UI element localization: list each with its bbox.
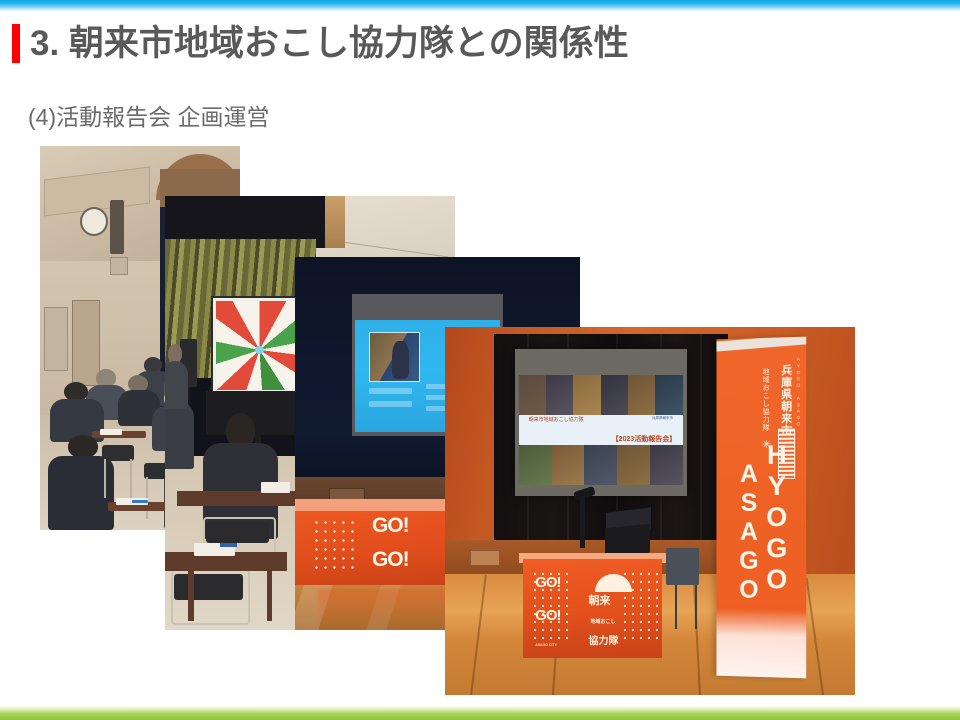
photo-4-slide-title: 朝来市地域おこし協力隊 (529, 416, 584, 423)
photo-3-slide-portrait (369, 332, 419, 382)
photo-4-banner-asago-text: ASAGO (734, 460, 763, 605)
photo-3-tablecloth-go-2: GO! (372, 548, 409, 572)
photo-4-projected-slide: 朝来市地域おこし協力隊 兵庫県朝来市 【2023活動報告会】 (519, 375, 683, 485)
photo-4-banner-jp-sub: 地域おこし協力隊 (760, 368, 770, 432)
photo-4-tablecloth-go-1: GO! (535, 574, 560, 591)
photo-4-tablecloth-jp-2: 地域おこし (591, 618, 616, 625)
page-title: 3. 朝来市地域おこし協力隊との関係性 (30, 24, 629, 63)
photo-4-stage-vent (470, 550, 501, 567)
stage-with-banner-photo: 朝来市地域おこし協力隊 兵庫県朝来市 【2023活動報告会】 GO! GO! 朝… (445, 327, 855, 695)
photo-4-slide-bottom-strip (519, 445, 683, 485)
photo-3-tablecloth-dots (312, 518, 358, 570)
photo-4-slide-title-band: 朝来市地域おこし協力隊 兵庫県朝来市 【2023活動報告会】 (519, 415, 683, 446)
slide-subtitle: (4)活動報告会 企画運営 (28, 98, 270, 132)
photo-4-tablecloth-jp-1: 朝来 (589, 592, 611, 608)
photo-4-slide-logo: 兵庫県朝来市 (652, 416, 673, 421)
photo-4-banner-romaji: HYOGO ASAGO (796, 357, 801, 428)
photo-4-banner-hyogo-text: HYOGO (760, 439, 791, 595)
photo-4-banner-jp-main: 兵庫県朝来市 (777, 364, 793, 437)
photo-4-chair (666, 548, 699, 585)
photo-1-wall-vent (110, 257, 128, 274)
photo-4-content: 朝来市地域おこし協力隊 兵庫県朝来市 【2023活動報告会】 GO! GO! 朝… (445, 327, 855, 695)
slide-top-accent-bar (0, 0, 960, 12)
photo-4-tablecloth-go-2: GO! (535, 607, 560, 624)
photo-4-tablecloth-jp-3: 協力隊 (589, 632, 619, 647)
heading-accent-bar (12, 24, 20, 63)
slide-bottom-accent-bar (0, 706, 960, 720)
photo-3-tablecloth-go-1: GO! (372, 514, 409, 538)
photo-4-slide-subtitle: 【2023活動報告会】 (612, 434, 677, 444)
photo-4-banner-bottom-wash (716, 608, 806, 678)
photo-2-projection-screen (211, 296, 308, 395)
photo-3-floor-reflection (318, 589, 449, 626)
photo-4-slide-top-strip (519, 375, 683, 415)
slide-heading: 3. 朝来市地域おこし協力隊との関係性 (12, 24, 629, 63)
photo-2-projected-slide (216, 301, 303, 390)
photo-1-wall-speaker (110, 200, 124, 254)
photo-4-microphone-stand (580, 496, 585, 548)
photo-4-tablecloth-romaji: ASAGO CITY (535, 643, 557, 647)
photo-4-rollup-banner: HYOGO ASAGO 兵庫県朝来市 地域おこし協力隊 ✳ HYOGO ASAG… (716, 337, 806, 678)
